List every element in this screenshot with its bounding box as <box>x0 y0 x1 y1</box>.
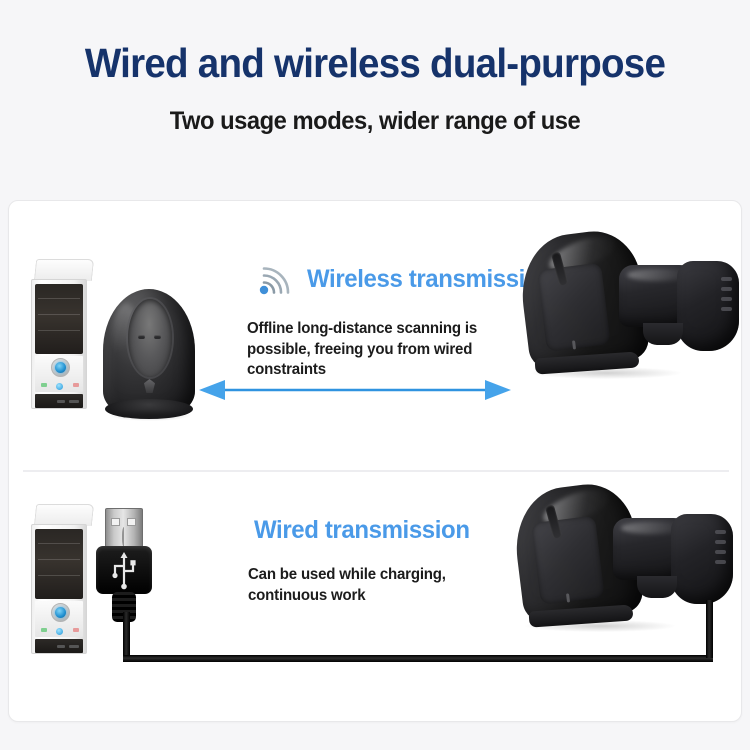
status-led-blue <box>56 628 63 635</box>
usb-cable-scanner-segment <box>706 600 713 658</box>
status-led-blue <box>56 383 63 390</box>
pc-tower-top <box>34 504 94 526</box>
pc-tower-top <box>34 259 94 281</box>
charging-cradle <box>103 281 195 421</box>
barcode-scanner-wireless <box>515 219 742 384</box>
wireless-transmission-panel: Wireless transmission Offline long-dista… <box>9 201 742 470</box>
pc-tower-bezel <box>35 284 83 354</box>
status-led-red <box>73 628 79 632</box>
charging-contact-right <box>154 335 161 339</box>
scanner-grip <box>671 514 733 604</box>
pc-tower-body <box>31 279 87 409</box>
pc-tower-front-panel <box>35 356 83 392</box>
pc-tower-front-panel <box>35 601 83 637</box>
cradle-shadow <box>109 409 191 421</box>
page-subtitle: Two usage modes, wider range of use <box>19 107 732 136</box>
charging-contact-left <box>138 335 145 339</box>
pc-tower-port-bay <box>35 394 83 408</box>
scanner-trigger[interactable] <box>643 323 683 345</box>
pc-tower-wired <box>31 504 93 654</box>
wireless-section-body: Offline long-distance scanning is possib… <box>247 319 517 381</box>
scanner-shadow <box>525 620 675 632</box>
pc-tower-bezel <box>35 529 83 599</box>
usb-metal-plug <box>105 508 143 550</box>
scanner-window <box>537 263 611 352</box>
pc-tower-wireless <box>31 259 93 409</box>
scanner-trigger[interactable] <box>637 576 677 598</box>
pc-tower-port-bay <box>35 639 83 653</box>
pc-tower-body <box>31 524 87 654</box>
page-title: Wired and wireless dual-purpose <box>23 42 728 85</box>
power-button-icon[interactable] <box>51 358 70 377</box>
barcode-scanner-wired <box>509 472 739 637</box>
usb-housing <box>96 546 152 594</box>
status-led-red <box>73 383 79 387</box>
wired-section-body: Can be used while charging, continuous w… <box>248 565 508 606</box>
status-led-green <box>41 383 47 387</box>
cradle-recess <box>128 299 172 377</box>
wired-section-title: Wired transmission <box>254 516 470 545</box>
content-card: Wireless transmission Offline long-dista… <box>8 200 742 722</box>
usb-trident-icon <box>96 546 152 594</box>
usb-plug-detail <box>122 527 127 547</box>
power-button-icon[interactable] <box>51 603 70 622</box>
scanner-shadow <box>531 367 681 379</box>
usb-cable-horizontal-segment <box>123 655 713 662</box>
status-led-green <box>41 628 47 632</box>
wifi-signal-icon <box>255 264 299 300</box>
usb-connector-icon <box>96 508 152 628</box>
scanner-window <box>531 516 605 605</box>
page-header: Wired and wireless dual-purpose Two usag… <box>0 0 750 136</box>
scanner-grip <box>677 261 739 351</box>
bidirectional-arrow-icon <box>199 379 511 401</box>
